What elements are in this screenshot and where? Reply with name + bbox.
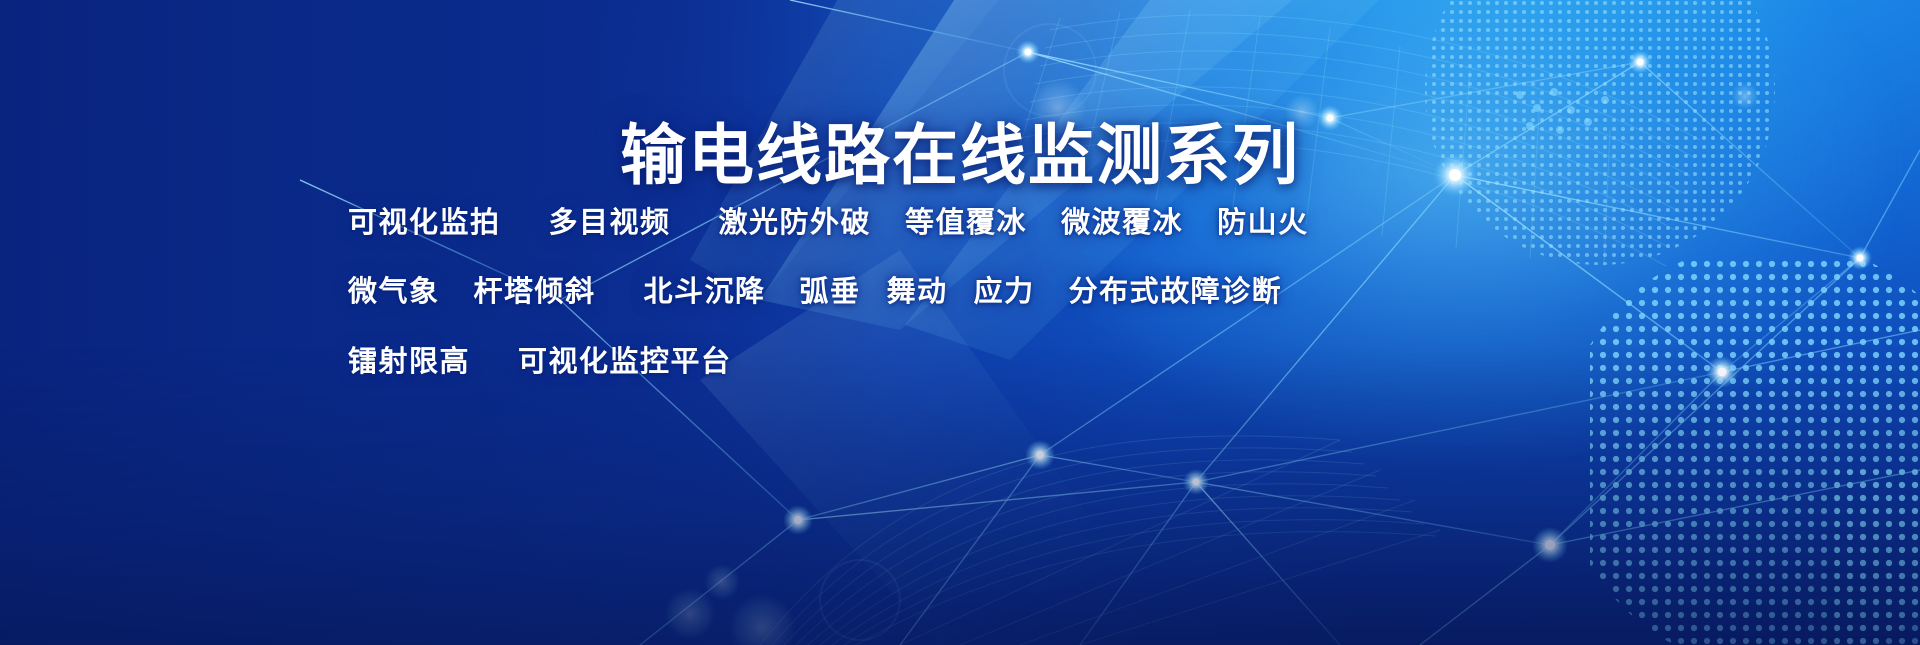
tag-item[interactable]: 多目视频 [549, 205, 671, 241]
tag-row-2: 微气象 杆塔倾斜 北斗沉降 弧垂 舞动 应力 分布式故障诊断 [348, 274, 1348, 310]
tag-item[interactable]: 等值覆冰 [905, 205, 1027, 241]
tag-item[interactable]: 微波覆冰 [1061, 205, 1183, 241]
tag-item[interactable]: 分布式故障诊断 [1069, 274, 1283, 310]
tag-item[interactable]: 弧垂 [800, 274, 861, 310]
tag-item[interactable]: 舞动 [887, 274, 948, 310]
tag-item[interactable]: 北斗沉降 [644, 274, 766, 310]
banner-title: 输电线路在线监测系列 [0, 122, 1920, 188]
tag-item[interactable]: 应力 [974, 274, 1035, 310]
tag-item[interactable]: 微气象 [348, 274, 440, 310]
hero-banner: 输电线路在线监测系列 可视化监拍 多目视频 激光防外破 等值覆冰 微波覆冰 防山… [0, 0, 1920, 645]
product-tag-list: 可视化监拍 多目视频 激光防外破 等值覆冰 微波覆冰 防山火 微气象 杆塔倾斜 … [348, 205, 1348, 380]
tag-item[interactable]: 可视化监拍 [348, 205, 501, 241]
banner-content: 输电线路在线监测系列 可视化监拍 多目视频 激光防外破 等值覆冰 微波覆冰 防山… [0, 0, 1920, 645]
tag-item[interactable]: 可视化监控平台 [518, 344, 732, 380]
tag-item[interactable]: 镭射限高 [348, 344, 470, 380]
tag-item[interactable]: 防山火 [1217, 205, 1309, 241]
tag-item[interactable]: 杆塔倾斜 [474, 274, 596, 310]
tag-item[interactable]: 激光防外破 [719, 205, 872, 241]
tag-row-1: 可视化监拍 多目视频 激光防外破 等值覆冰 微波覆冰 防山火 [348, 205, 1348, 241]
tag-row-3: 镭射限高 可视化监控平台 [348, 344, 1348, 380]
